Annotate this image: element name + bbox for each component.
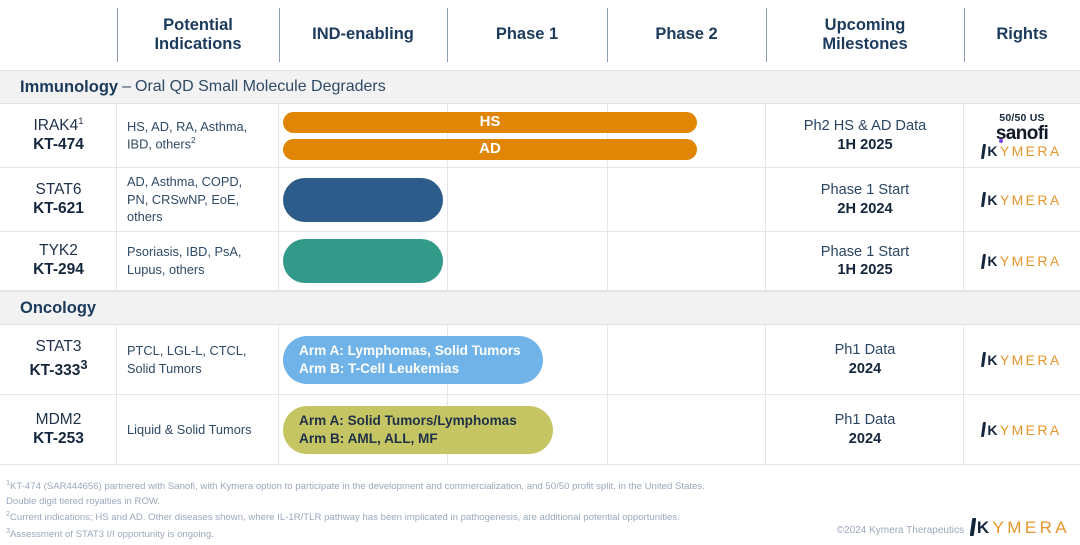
header-phase1-label: Phase 1 (496, 25, 558, 44)
header-phase2-label: Phase 2 (655, 25, 717, 44)
footnote-2: 2Current indications; HS and AD. Other d… (6, 509, 906, 526)
header-upcoming-milestones: Upcoming Milestones (766, 0, 964, 70)
kymera-logo-k: K (987, 254, 1000, 268)
program-cell-tyk2: TYK2 KT-294 (0, 232, 117, 290)
section-banner-oncology: Oncology (0, 291, 1080, 325)
section-subtitle-immunology: Oral QD Small Molecule Degraders (135, 78, 386, 96)
kymera-logo-rest: YMERA (1000, 353, 1062, 367)
program-code-footnote-ref: 3 (80, 357, 87, 372)
kymera-logo-k: K (987, 144, 1000, 158)
table-header-row: Potential Indications IND-enabling Phase… (0, 0, 1080, 70)
milestone-bottom-stat3: 2024 (849, 360, 881, 378)
indications-cell-stat3: PTCL, LGL-L, CTCL, Solid Tumors (117, 325, 279, 394)
table-row-stat3[interactable]: STAT3 KT-3333 PTCL, LGL-L, CTCL, Solid T… (0, 325, 1080, 395)
footnote-3-text: Assessment of STAT3 I/I opportunity is o… (10, 529, 214, 540)
header-ind-enabling-label: IND-enabling (312, 25, 414, 44)
program-code-stat3: KT-3333 (29, 357, 87, 381)
program-code-mdm2: KT-253 (33, 430, 84, 449)
bar-zone-stat6 (279, 168, 766, 231)
column-divider-phase2 (607, 232, 608, 290)
bar-zone-irak4: HS AD (279, 104, 766, 167)
indications-line1: AD, Asthma, COPD, (127, 173, 242, 191)
pipeline-bar-mdm2-line1: Arm A: Solid Tumors/Lymphomas (299, 412, 553, 429)
kymera-tick-icon (981, 254, 986, 269)
bar-zone-tyk2 (279, 232, 766, 290)
indications-line2-text: IBD, others (127, 137, 191, 152)
rights-cell-stat6: KYMERA (964, 168, 1080, 231)
indications-cell-tyk2: Psoriasis, IBD, PsA, Lupus, others (117, 232, 279, 290)
section-title-oncology: Oncology (20, 299, 96, 318)
sanofi-logo: sanofi (996, 124, 1048, 144)
footer-kymera-logo: KYMERA (971, 518, 1070, 536)
table-row-stat6[interactable]: STAT6 KT-621 AD, Asthma, COPD, PN, CRSwN… (0, 168, 1080, 232)
pipeline-bar-stat3[interactable]: Arm A: Lymphomas, Solid Tumors Arm B: T-… (283, 336, 543, 384)
indications-line3: others (127, 208, 242, 226)
kymera-logo-mdm2: KYMERA (982, 422, 1061, 437)
kymera-logo-irak4: KYMERA (982, 144, 1061, 159)
header-phase1: Phase 1 (447, 0, 607, 70)
indications-line1: Liquid & Solid Tumors (127, 421, 251, 439)
header-milestones-line1: Upcoming (822, 16, 907, 35)
milestone-top-irak4: Ph2 HS & AD Data (804, 117, 927, 135)
program-target-stat3: STAT3 (36, 338, 82, 357)
rights-cell-tyk2: KYMERA (964, 232, 1080, 290)
milestone-cell-irak4: Ph2 HS & AD Data 1H 2025 (766, 104, 964, 167)
kymera-logo-rest: YMERA (1000, 193, 1062, 207)
program-target-text: IRAK4 (33, 117, 78, 134)
milestone-cell-tyk2: Phase 1 Start 1H 2025 (766, 232, 964, 290)
pipeline-bar-mdm2-line2: Arm B: AML, ALL, MF (299, 430, 553, 447)
table-row-mdm2[interactable]: MDM2 KT-253 Liquid & Solid Tumors Arm A:… (0, 395, 1080, 465)
kymera-logo-stat3: KYMERA (982, 352, 1061, 367)
milestone-bottom-irak4: 1H 2025 (837, 136, 892, 154)
column-divider-phase1 (447, 232, 448, 290)
program-target-irak4: IRAK41 (33, 116, 83, 136)
footnote-3: 3Assessment of STAT3 I/I opportunity is … (6, 526, 906, 543)
kymera-logo-k: K (977, 519, 993, 536)
sanofi-logo-text: sanofi (996, 123, 1048, 144)
header-ind-enabling: IND-enabling (279, 0, 447, 70)
pipeline-bar-label-ad: AD (283, 140, 697, 157)
indications-line1: Psoriasis, IBD, PsA, (127, 243, 242, 261)
program-target-tyk2: TYK2 (39, 242, 78, 261)
milestone-top-mdm2: Ph1 Data (835, 411, 896, 429)
pipeline-bar-label-hs: HS (283, 113, 697, 130)
column-divider-phase2 (607, 168, 608, 231)
table-row-tyk2[interactable]: TYK2 KT-294 Psoriasis, IBD, PsA, Lupus, … (0, 232, 1080, 291)
milestone-bottom-stat6: 2H 2024 (837, 200, 892, 218)
program-code-tyk2: KT-294 (33, 261, 84, 280)
indications-line2: Lupus, others (127, 261, 242, 279)
program-code-text: KT-333 (29, 362, 80, 379)
header-rights: Rights (964, 0, 1080, 70)
program-cell-irak4: IRAK41 KT-474 (0, 104, 117, 167)
table-row-irak4[interactable]: IRAK41 KT-474 HS, AD, RA, Asthma, IBD, o… (0, 104, 1080, 168)
program-target-stat6: STAT6 (36, 181, 82, 200)
milestone-top-stat3: Ph1 Data (835, 341, 896, 359)
pipeline-bar-stat3-line2: Arm B: T-Cell Leukemias (299, 360, 543, 377)
kymera-tick-icon (981, 422, 986, 437)
kymera-logo-rest: YMERA (1000, 144, 1062, 158)
milestone-cell-stat6: Phase 1 Start 2H 2024 (766, 168, 964, 231)
header-phase2: Phase 2 (607, 0, 766, 70)
kymera-tick-icon (981, 144, 986, 159)
pipeline-bar-tyk2[interactable] (283, 239, 443, 283)
indications-line2: Solid Tumors (127, 360, 246, 378)
pipeline-chart-page: Potential Indications IND-enabling Phase… (0, 0, 1080, 545)
header-rights-label: Rights (996, 25, 1047, 44)
pipeline-table: Potential Indications IND-enabling Phase… (0, 0, 1080, 465)
header-milestones-line2: Milestones (822, 35, 907, 54)
pipeline-bar-irak4-hs[interactable]: HS (283, 112, 697, 133)
program-code-irak4: KT-474 (33, 136, 84, 155)
program-target-mdm2: MDM2 (36, 411, 82, 430)
footnote-1-line1: 1KT-474 (SAR444656) partnered with Sanof… (6, 478, 906, 495)
rights-cell-mdm2: KYMERA (964, 395, 1080, 464)
footnote-2-text: Current indications; HS and AD. Other di… (10, 513, 680, 524)
section-banner-immunology: Immunology – Oral QD Small Molecule Degr… (0, 70, 1080, 104)
footnote-1-line2: Double digit tiered royalties in ROW. (6, 495, 906, 510)
milestone-top-stat6: Phase 1 Start (821, 181, 909, 199)
footnote-1-text: KT-474 (SAR444656) partnered with Sanofi… (10, 481, 705, 492)
header-program (0, 0, 117, 70)
indications-line1: HS, AD, RA, Asthma, (127, 118, 247, 136)
kymera-logo-rest: YMERA (1000, 254, 1062, 268)
indications-footnote-ref: 2 (191, 135, 196, 145)
rights-cell-irak4: 50/50 US sanofi KYMERA (964, 104, 1080, 167)
section-title-immunology: Immunology (20, 78, 118, 97)
bar-zone-stat3: Arm A: Lymphomas, Solid Tumors Arm B: T-… (279, 325, 766, 394)
indications-cell-irak4: HS, AD, RA, Asthma, IBD, others2 (117, 104, 279, 167)
program-code-stat6: KT-621 (33, 200, 84, 219)
milestone-cell-mdm2: Ph1 Data 2024 (766, 395, 964, 464)
indications-cell-stat6: AD, Asthma, COPD, PN, CRSwNP, EoE, other… (117, 168, 279, 231)
kymera-logo-rest: YMERA (993, 519, 1070, 536)
indications-line2: IBD, others2 (127, 135, 247, 153)
milestone-top-tyk2: Phase 1 Start (821, 243, 909, 261)
column-divider-phase2 (607, 395, 608, 464)
pipeline-bar-stat6[interactable] (283, 178, 443, 222)
header-indications-line1: Potential (154, 16, 241, 35)
milestone-cell-stat3: Ph1 Data 2024 (766, 325, 964, 394)
pipeline-bar-irak4-ad[interactable]: AD (283, 139, 697, 160)
indications-line2: PN, CRSwNP, EoE, (127, 191, 242, 209)
footnotes-block: 1KT-474 (SAR444656) partnered with Sanof… (6, 478, 906, 543)
program-target-footnote-ref: 1 (78, 116, 83, 127)
kymera-tick-icon (981, 192, 986, 207)
column-divider-phase2 (607, 325, 608, 394)
kymera-logo-k: K (987, 423, 1000, 437)
milestone-bottom-tyk2: 1H 2025 (837, 261, 892, 279)
indications-cell-mdm2: Liquid & Solid Tumors (117, 395, 279, 464)
kymera-logo-k: K (987, 193, 1000, 207)
program-cell-stat3: STAT3 KT-3333 (0, 325, 117, 394)
pipeline-bar-stat3-line1: Arm A: Lymphomas, Solid Tumors (299, 342, 543, 359)
header-indications-line2: Indications (154, 35, 241, 54)
column-divider-phase1 (447, 168, 448, 231)
kymera-logo-stat6: KYMERA (982, 192, 1061, 207)
sanofi-dot-icon (999, 139, 1003, 143)
program-cell-stat6: STAT6 KT-621 (0, 168, 117, 231)
kymera-tick-icon (970, 518, 976, 536)
header-potential-indications: Potential Indications (117, 0, 279, 70)
indications-line1: PTCL, LGL-L, CTCL, (127, 342, 246, 360)
rights-cell-stat3: KYMERA (964, 325, 1080, 394)
kymera-logo-tyk2: KYMERA (982, 254, 1061, 269)
section-dash-immunology: – (122, 78, 131, 96)
kymera-tick-icon (981, 352, 986, 367)
kymera-logo-rest: YMERA (1000, 423, 1062, 437)
kymera-logo-k: K (987, 353, 1000, 367)
bar-zone-mdm2: Arm A: Solid Tumors/Lymphomas Arm B: AML… (279, 395, 766, 464)
milestone-bottom-mdm2: 2024 (849, 430, 881, 448)
program-cell-mdm2: MDM2 KT-253 (0, 395, 117, 464)
pipeline-bar-mdm2[interactable]: Arm A: Solid Tumors/Lymphomas Arm B: AML… (283, 406, 553, 454)
copyright-text: ©2024 Kymera Therapeutics (837, 525, 964, 536)
